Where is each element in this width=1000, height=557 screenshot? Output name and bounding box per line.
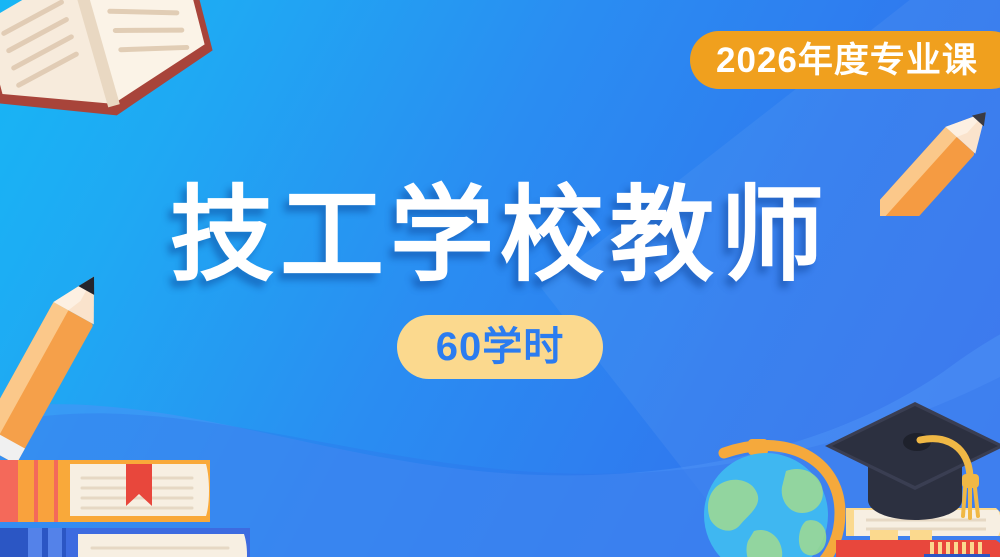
- hours-badge: 60学时: [397, 315, 603, 379]
- book-stack-icon: [0, 452, 320, 557]
- year-badge: 2026年度专业课: [690, 31, 1000, 89]
- year-badge-label: 2026年度专业课: [716, 43, 978, 78]
- cap-body: [825, 402, 1000, 520]
- open-book-icon: [0, 0, 224, 152]
- page-title: 技工学校教师: [0, 182, 1000, 291]
- pencil-icon: [0, 268, 132, 468]
- hours-badge-label: 60学时: [436, 327, 565, 367]
- course-banner: 2026年度专业课 技工学校教师 60学时: [0, 0, 1000, 557]
- graduation-cap-icon: [790, 390, 1000, 557]
